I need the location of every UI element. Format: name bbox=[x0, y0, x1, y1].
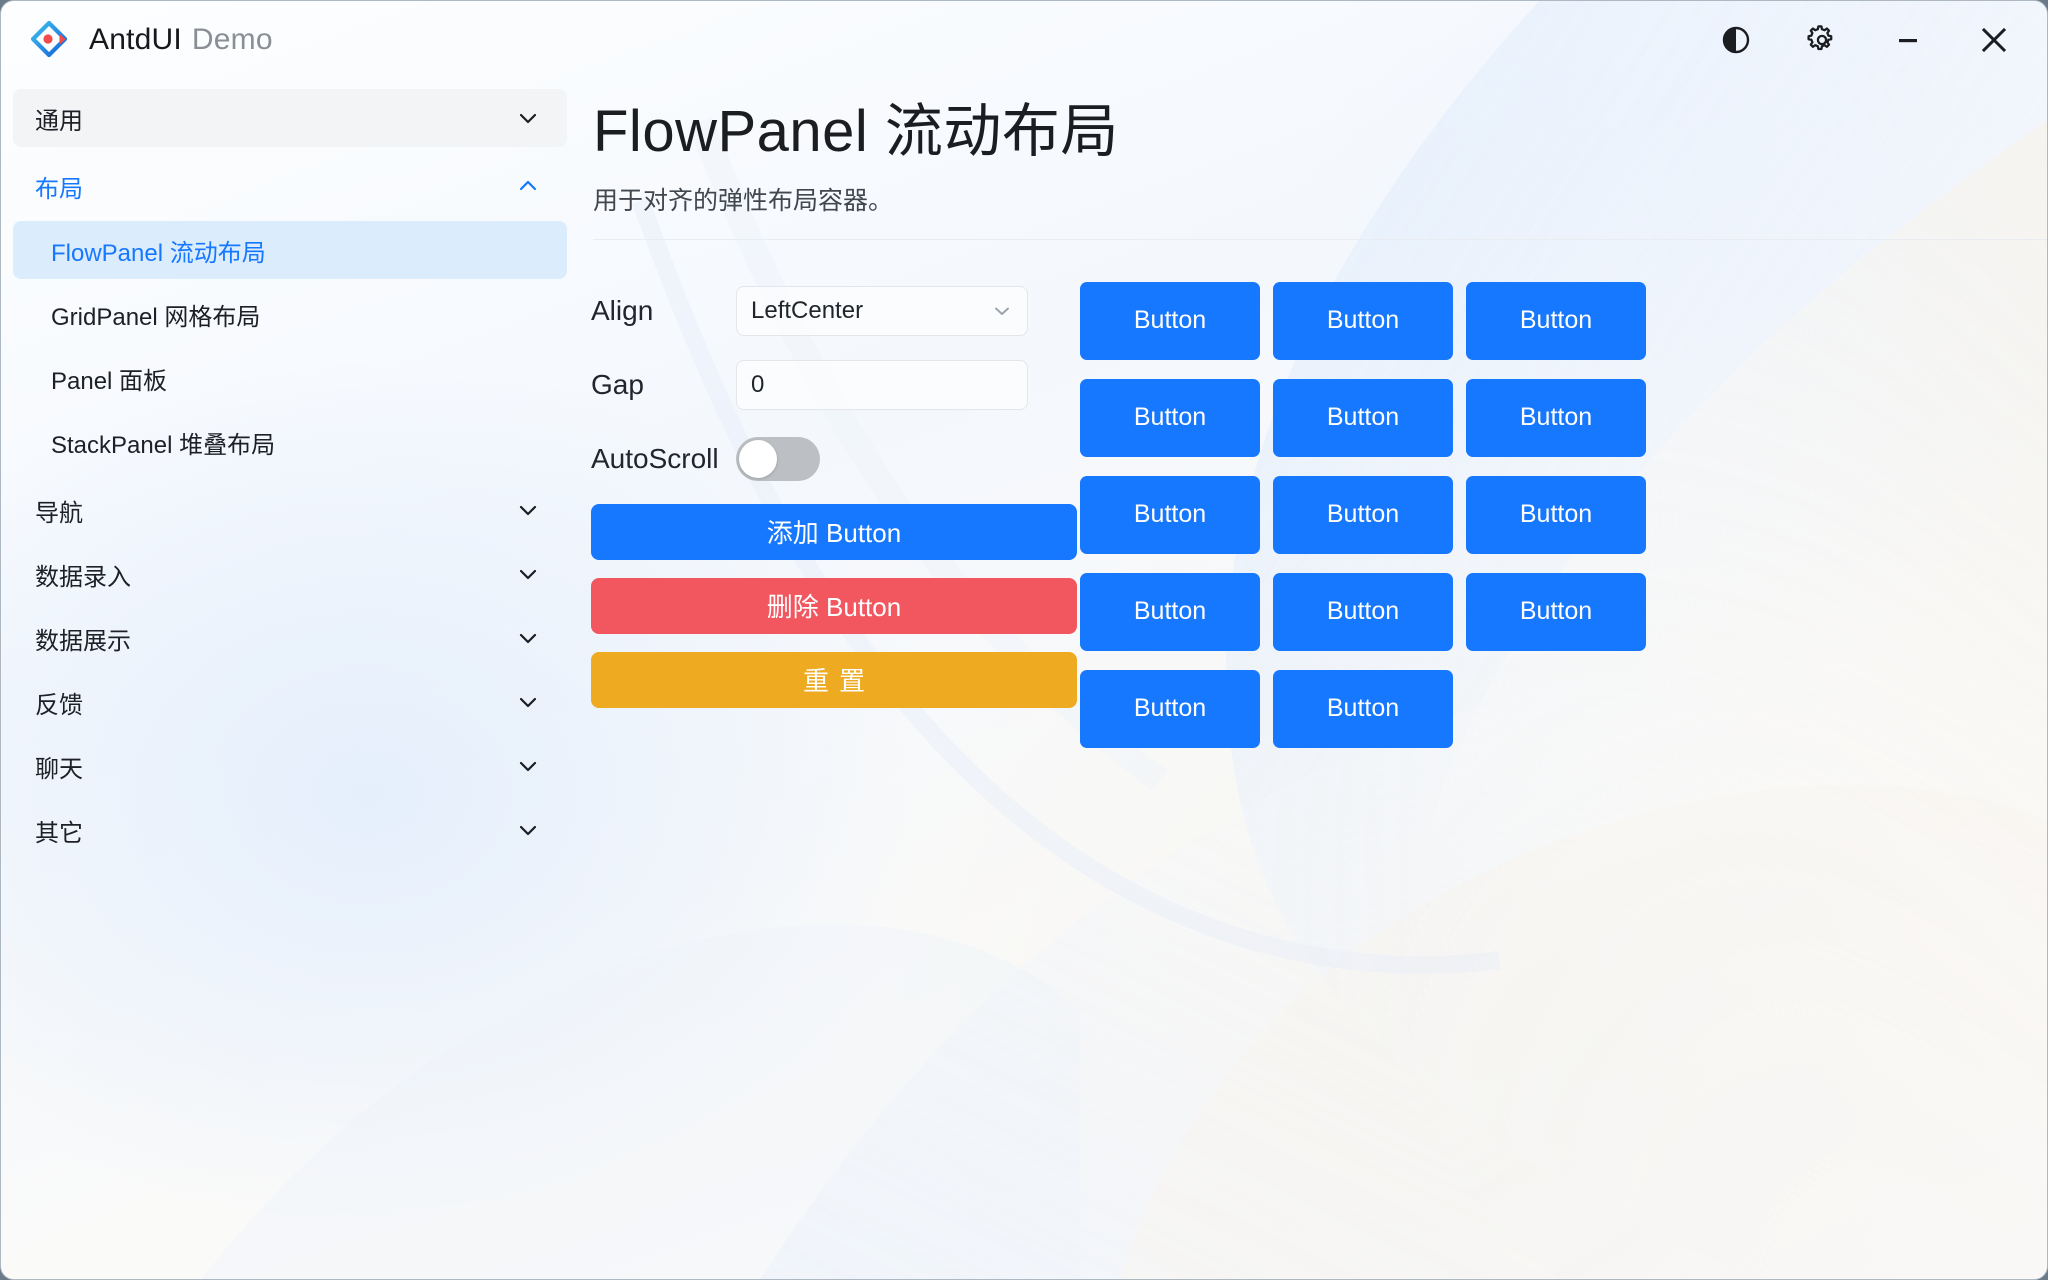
window-controls bbox=[1705, 1, 2047, 79]
page-header: FlowPanel 流动布局 用于对齐的弹性布局容器。 bbox=[579, 79, 2047, 240]
controls-column: Align LeftCenter Gap 0 AutoScroll bbox=[591, 282, 1061, 767]
gear-icon bbox=[1806, 24, 1838, 56]
flow-panel-button[interactable]: Button bbox=[1273, 573, 1453, 651]
gap-label: Gap bbox=[591, 369, 736, 401]
app-name-suffix: Demo bbox=[192, 23, 273, 56]
contrast-half-circle-icon bbox=[1721, 25, 1751, 55]
sidebar-item-flowpanel[interactable]: FlowPanel 流动布局 bbox=[13, 221, 567, 279]
flow-panel-button[interactable]: Button bbox=[1466, 282, 1646, 360]
sidebar-group-chat[interactable]: 聊天 bbox=[13, 737, 567, 795]
sidebar-group-label: 其它 bbox=[35, 813, 83, 848]
sidebar-item-gridpanel[interactable]: GridPanel 网格布局 bbox=[13, 285, 567, 343]
antdui-diamond-logo-icon bbox=[27, 18, 71, 62]
sidebar-group-layout[interactable]: 布局 bbox=[13, 157, 567, 215]
chevron-down-icon bbox=[515, 105, 541, 131]
sidebar-group-label: 通用 bbox=[35, 101, 83, 136]
flow-panel-button[interactable]: Button bbox=[1080, 476, 1260, 554]
flow-panel-button[interactable]: Button bbox=[1273, 379, 1453, 457]
gap-row: Gap 0 bbox=[591, 356, 1061, 414]
chevron-down-icon bbox=[515, 753, 541, 779]
chevron-down-icon bbox=[515, 497, 541, 523]
sidebar-group-label: 数据录入 bbox=[35, 557, 131, 592]
chevron-down-icon bbox=[515, 689, 541, 715]
gap-input-value: 0 bbox=[751, 371, 764, 399]
theme-toggle-button[interactable] bbox=[1705, 12, 1767, 68]
minimize-button[interactable] bbox=[1877, 12, 1939, 68]
flow-panel-button[interactable]: Button bbox=[1273, 282, 1453, 360]
action-buttons: 添加 Button 删除 Button 重置 bbox=[591, 504, 1061, 708]
sidebar-group-navigation[interactable]: 导航 bbox=[13, 481, 567, 539]
sidebar-item-label: StackPanel 堆叠布局 bbox=[51, 425, 275, 460]
sidebar-item-label: Panel 面板 bbox=[51, 361, 167, 396]
app-window: AntdUIDemo bbox=[0, 0, 2048, 1280]
gap-input[interactable]: 0 bbox=[736, 360, 1028, 410]
sidebar-group-general[interactable]: 通用 bbox=[13, 89, 567, 147]
sidebar-group-label: 布局 bbox=[35, 169, 83, 204]
chevron-down-icon bbox=[515, 561, 541, 587]
flow-panel-button[interactable]: Button bbox=[1273, 476, 1453, 554]
page-description: 用于对齐的弹性布局容器。 bbox=[593, 181, 2047, 217]
autoscroll-label: AutoScroll bbox=[591, 443, 736, 475]
demo-body: Align LeftCenter Gap 0 AutoScroll bbox=[579, 240, 2047, 767]
align-selected-value: LeftCenter bbox=[751, 297, 863, 325]
sidebar-group-data-display[interactable]: 数据展示 bbox=[13, 609, 567, 667]
chevron-down-icon bbox=[515, 625, 541, 651]
settings-button[interactable] bbox=[1791, 12, 1853, 68]
sidebar-item-label: FlowPanel 流动布局 bbox=[51, 233, 266, 268]
app-name: AntdUI bbox=[89, 23, 182, 56]
close-icon bbox=[1977, 23, 2011, 57]
flow-panel-button[interactable]: Button bbox=[1080, 573, 1260, 651]
autoscroll-toggle[interactable] bbox=[736, 437, 820, 481]
autoscroll-row: AutoScroll bbox=[591, 430, 1061, 488]
flow-panel-button[interactable]: Button bbox=[1466, 573, 1646, 651]
sidebar-navigation: 通用 布局 FlowPanel 流动布局 GridPanel 网格布局 Pane… bbox=[1, 79, 579, 1279]
minimize-icon bbox=[1893, 25, 1923, 55]
sidebar-group-feedback[interactable]: 反馈 bbox=[13, 673, 567, 731]
delete-button-button[interactable]: 删除 Button bbox=[591, 578, 1077, 634]
flow-panel-demo-area: ButtonButtonButtonButtonButtonButtonButt… bbox=[1061, 282, 1851, 767]
toggle-knob bbox=[739, 440, 777, 478]
sidebar-group-other[interactable]: 其它 bbox=[13, 801, 567, 859]
chevron-up-icon bbox=[515, 173, 541, 199]
flow-panel-button[interactable]: Button bbox=[1466, 476, 1646, 554]
flow-panel-button[interactable]: Button bbox=[1080, 379, 1260, 457]
chevron-down-icon bbox=[991, 300, 1013, 322]
sidebar-item-label: GridPanel 网格布局 bbox=[51, 297, 260, 332]
sidebar-group-data-entry[interactable]: 数据录入 bbox=[13, 545, 567, 603]
align-label: Align bbox=[591, 295, 736, 327]
sidebar-group-label: 聊天 bbox=[35, 749, 83, 784]
flow-panel-button[interactable]: Button bbox=[1466, 379, 1646, 457]
close-button[interactable] bbox=[1963, 12, 2025, 68]
flow-panel-button[interactable]: Button bbox=[1273, 670, 1453, 748]
align-select[interactable]: LeftCenter bbox=[736, 286, 1028, 336]
main-content: FlowPanel 流动布局 用于对齐的弹性布局容器。 Align LeftCe… bbox=[579, 79, 2047, 1279]
sidebar-group-label: 反馈 bbox=[35, 685, 83, 720]
page-title: FlowPanel 流动布局 bbox=[593, 97, 2047, 167]
chevron-down-icon bbox=[515, 817, 541, 843]
add-button-button[interactable]: 添加 Button bbox=[591, 504, 1077, 560]
reset-button[interactable]: 重置 bbox=[591, 652, 1077, 708]
sidebar-group-label: 数据展示 bbox=[35, 621, 131, 656]
sidebar-item-panel[interactable]: Panel 面板 bbox=[13, 349, 567, 407]
flow-panel-button[interactable]: Button bbox=[1080, 670, 1260, 748]
sidebar-group-label: 导航 bbox=[35, 493, 83, 528]
flow-panel-button[interactable]: Button bbox=[1080, 282, 1260, 360]
sidebar-item-stackpanel[interactable]: StackPanel 堆叠布局 bbox=[13, 413, 567, 471]
title-bar: AntdUIDemo bbox=[1, 1, 2047, 79]
app-title: AntdUIDemo bbox=[89, 23, 273, 57]
align-row: Align LeftCenter bbox=[591, 282, 1061, 340]
